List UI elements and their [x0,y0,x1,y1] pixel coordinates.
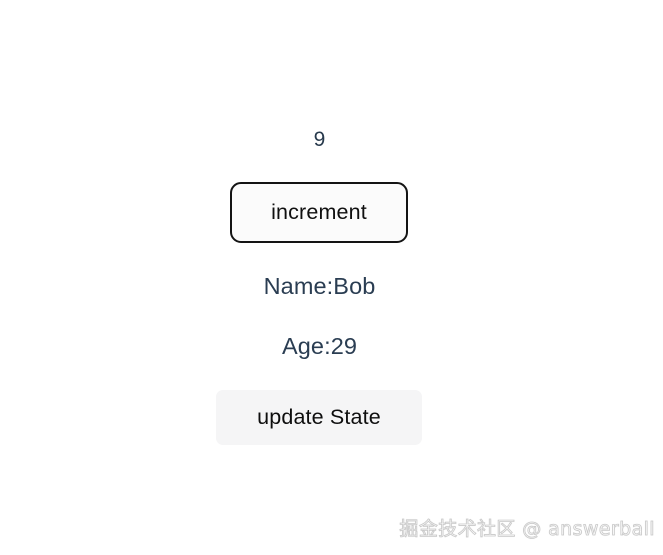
update-state-button[interactable]: update State [216,390,422,445]
watermark-text: 掘金技术社区 @ answerball [399,517,655,541]
app-root: 9 increment Name:Bob Age:29 update State… [0,0,663,555]
update-state-button-label: update State [257,405,381,430]
counter-value: 9 [0,126,639,154]
age-text: Age:29 [0,331,639,361]
name-text: Name:Bob [0,271,639,301]
increment-button[interactable]: increment [230,182,408,243]
increment-button-label: increment [271,200,367,225]
